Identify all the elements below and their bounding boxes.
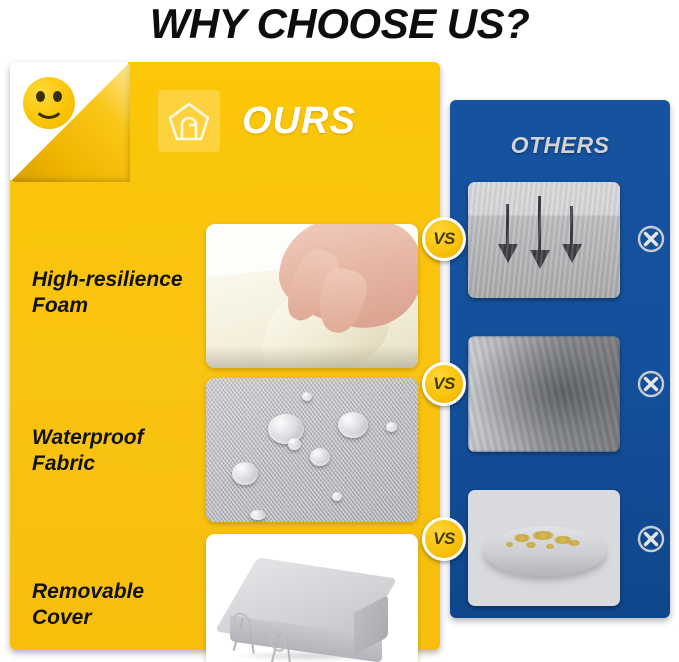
foam-photo-scene (206, 224, 418, 368)
water-droplet (288, 438, 301, 450)
smiley-mouth (33, 97, 65, 119)
stained-cushion-scene (468, 490, 620, 606)
stain-mark (506, 542, 513, 547)
others-photo-wet-fabric (468, 336, 620, 452)
ours-photo-removable-cover (206, 534, 418, 662)
others-label: OTHERS (450, 132, 670, 159)
stain-mark (532, 531, 554, 540)
water-droplet (386, 422, 397, 432)
ours-label: OURS (242, 101, 356, 141)
water-droplet (338, 412, 368, 438)
vs-badge-row-1: VS (422, 217, 466, 261)
stain-mark (568, 540, 580, 546)
hand-shape (273, 224, 418, 335)
stain-mark (514, 534, 530, 542)
sagging-surface-scene (468, 182, 620, 298)
house-pentagon-logo-icon (158, 90, 220, 152)
water-droplet (302, 392, 312, 401)
ours-panel: OURS High-resilienceFoam WaterproofFabri… (10, 62, 440, 650)
cushion-photo-scene (206, 534, 418, 662)
circle-cross-icon (636, 224, 666, 254)
circle-cross-icon (636, 524, 666, 554)
vs-badge-row-3: VS (422, 517, 466, 561)
feature-label-foam: High-resilienceFoam (32, 267, 204, 319)
ours-photo-waterproof-fabric (206, 378, 418, 522)
down-arrow-icon (570, 206, 573, 246)
feature-label-fabric: WaterproofFabric (32, 425, 204, 477)
down-arrow-icon (506, 204, 509, 246)
water-droplet (310, 448, 330, 466)
others-photo-sagging-foam (468, 182, 620, 298)
water-droplet (332, 492, 342, 501)
page-title: WHY CHOOSE US? (0, 0, 679, 50)
vs-badge-row-2: VS (422, 362, 466, 406)
ours-photo-high-resilience-foam (206, 224, 418, 368)
water-droplet (232, 462, 258, 485)
infographic-canvas: WHY CHOOSE US? OURS High-resilienc (0, 0, 679, 662)
stain-mark (526, 542, 536, 548)
ours-header: OURS (158, 90, 356, 152)
down-arrow-icon (538, 196, 541, 252)
fabric-photo-scene (206, 378, 418, 522)
feature-label-cover: RemovableCover (32, 579, 204, 631)
stain-mark (546, 544, 554, 549)
wet-fabric-scene (468, 336, 620, 452)
circle-cross-icon (636, 369, 666, 399)
others-photo-stained-cushion (468, 490, 620, 606)
foam-shadow (206, 346, 418, 368)
water-droplet (250, 510, 266, 520)
smiley-face-icon (23, 77, 75, 129)
